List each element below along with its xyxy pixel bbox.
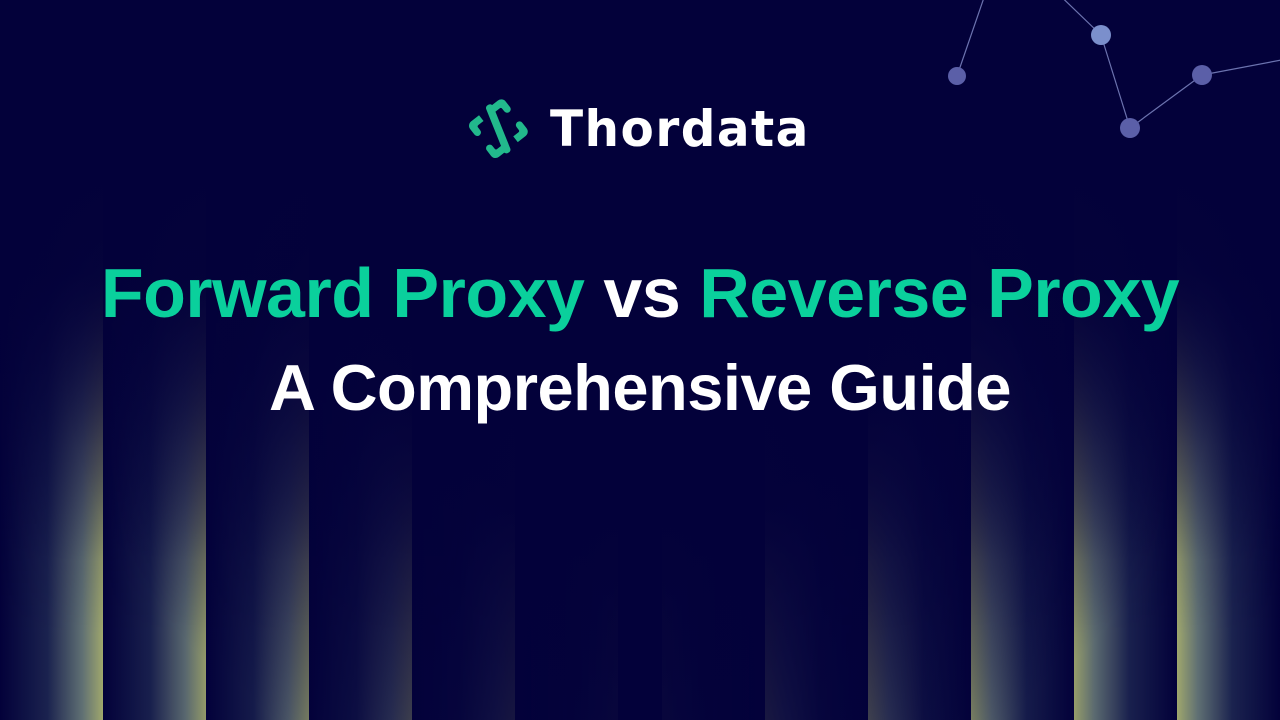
headline-segment-reverse-proxy: Reverse Proxy	[699, 254, 1179, 332]
brand-name: Thordata	[550, 104, 810, 154]
code-brackets-icon	[467, 98, 529, 160]
headline-segment-forward-proxy: Forward Proxy	[101, 254, 585, 332]
headline-block: Forward Proxy vs Reverse Proxy A Compreh…	[0, 258, 1280, 420]
headline-segment-vs: vs	[603, 254, 680, 332]
headline-line-1: Forward Proxy vs Reverse Proxy	[0, 258, 1280, 328]
banner-content: Thordata Forward Proxy vs Reverse Proxy …	[0, 0, 1280, 720]
headline-line-2: A Comprehensive Guide	[0, 355, 1280, 420]
brand-logo: Thordata	[0, 98, 1280, 160]
promo-banner: Thordata Forward Proxy vs Reverse Proxy …	[0, 0, 1280, 720]
